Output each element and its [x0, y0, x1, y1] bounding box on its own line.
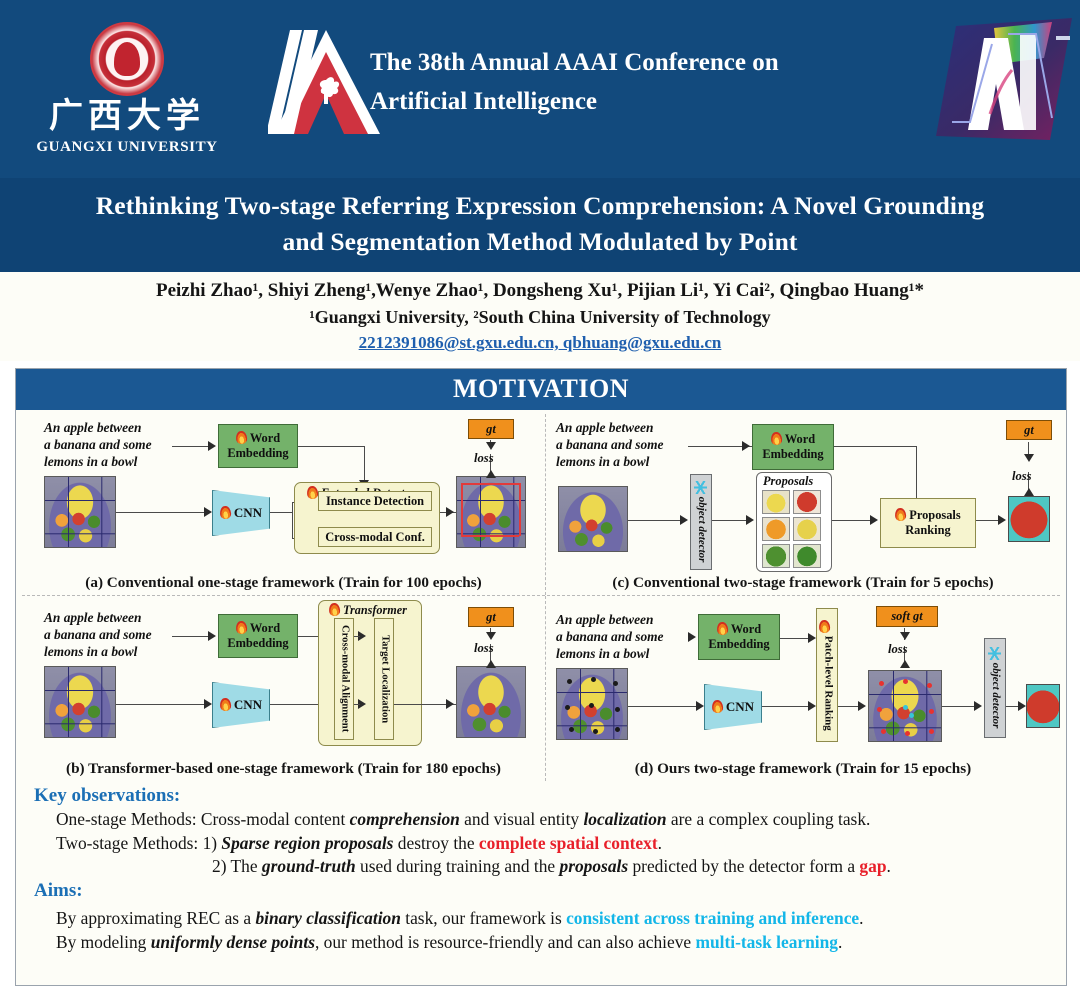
university-name-cn: 广西大学 — [49, 98, 205, 135]
patch-level-ranking-block-d: Patch-level Ranking — [816, 608, 838, 742]
figure-caption-b: (b) Transformer-based one-stage framewor… — [22, 758, 545, 781]
cnn-block-a: CNN — [212, 490, 270, 536]
figure-cell-d: An apple between a banana and some lemon… — [545, 596, 1060, 781]
proposal-thumb — [793, 490, 821, 514]
proposal-thumb — [762, 544, 790, 568]
flame-icon — [895, 508, 907, 522]
cnn-block-b: CNN — [212, 682, 270, 728]
guangxi-university-logo: 广西大学 GUANGXI UNIVERSITY — [12, 6, 242, 172]
flame-icon — [328, 602, 340, 616]
object-detector-block-c: object detector — [690, 474, 712, 570]
cnn-block-d: CNN — [704, 684, 762, 730]
result-image-a — [456, 476, 526, 548]
poster-root: 广西大学 GUANGXI UNIVERSITY The 38th Annual … — [0, 0, 1080, 998]
conference-title-line2: Artificial Intelligence — [370, 83, 900, 122]
snowflake-icon — [694, 481, 707, 494]
flame-icon — [306, 485, 318, 499]
object-detector-block-d: object detector — [984, 638, 1006, 738]
input-image-d — [556, 668, 628, 740]
figure-cell-a: An apple between a banana and some lemon… — [22, 414, 545, 595]
paper-title-band: Rethinking Two-stage Referring Expressio… — [0, 178, 1080, 272]
header-logo-band: 广西大学 GUANGXI UNIVERSITY The 38th Annual … — [0, 0, 1080, 178]
conference-title-line1: The 38th Annual AAAI Conference on — [370, 44, 900, 83]
result-image-b — [456, 666, 526, 738]
gt-block-c: gt — [1006, 420, 1052, 440]
contact-emails-link[interactable]: 2212391086@st.gxu.edu.cn, qbhuang@gxu.ed… — [10, 331, 1070, 356]
flame-icon — [219, 697, 231, 711]
proposal-thumb — [762, 517, 790, 541]
observation-line-1: One-stage Methods: Cross-modal content c… — [16, 808, 1066, 832]
affiliation-list: ¹Guangxi University, ²South China Univer… — [10, 305, 1070, 331]
proposal-thumbnail-grid — [762, 490, 821, 568]
target-localization-block-b: Target Localization — [374, 618, 394, 740]
gt-block-a: gt — [468, 419, 514, 439]
author-list: Peizhi Zhao¹, Shiyi Zheng¹,Wenye Zhao¹, … — [10, 278, 1070, 305]
figure-caption-a: (a) Conventional one-stage framework (Tr… — [22, 572, 545, 595]
input-image-c — [558, 486, 628, 552]
cross-modal-alignment-block-b: Cross-modal Alignment — [334, 618, 354, 740]
soft-gt-block-d: soft gt — [876, 606, 938, 627]
snowflake-icon — [988, 647, 1001, 660]
figure-caption-d: (d) Ours two-stage framework (Train for … — [546, 758, 1060, 781]
flame-icon — [235, 621, 247, 635]
aims-heading: Aims: — [16, 879, 1066, 903]
guangxi-university-seal-icon — [90, 22, 164, 96]
observation-line-2: Two-stage Methods: 1) Sparse region prop… — [16, 832, 1066, 856]
figure-row-top: An apple between a banana and some lemon… — [22, 414, 1060, 596]
aaai-triangle-mark-icon — [268, 22, 386, 142]
result-image-d — [868, 670, 942, 742]
key-observations-heading: Key observations: — [16, 785, 1066, 808]
paper-title-line1: Rethinking Two-stage Referring Expressio… — [24, 188, 1056, 224]
aaai-colored-logo-icon — [932, 18, 1072, 144]
proposals-ranking-block-c: Proposals Ranking — [880, 498, 976, 548]
university-name-en: GUANGXI UNIVERSITY — [36, 139, 217, 156]
diagram-b: An apple between a banana and some lemon… — [22, 596, 545, 758]
observations-section: Key observations: One-stage Methods: Cro… — [16, 781, 1066, 954]
flame-icon — [219, 505, 231, 519]
diagram-c: An apple between a banana and some lemon… — [546, 414, 1060, 572]
proposals-title: Proposals — [763, 474, 813, 489]
word-embedding-block-c: Word Embedding — [752, 424, 834, 470]
gt-block-b: gt — [468, 607, 514, 627]
flame-icon — [819, 619, 831, 633]
flame-icon — [711, 699, 723, 713]
input-image-a — [44, 476, 116, 548]
motivation-panel: MOTIVATION An apple between a banana and… — [15, 368, 1067, 986]
flame-icon — [716, 622, 728, 636]
figure-cell-b: An apple between a banana and some lemon… — [22, 596, 545, 781]
figure-row-bottom: An apple between a banana and some lemon… — [22, 596, 1060, 781]
input-phrase-a: An apple between a banana and some lemon… — [44, 420, 152, 471]
loss-label-d: loss — [888, 642, 908, 657]
instance-detection-block-a: Instance Detection — [318, 491, 432, 511]
loss-label-a: loss — [474, 451, 494, 466]
word-embedding-block-a: Word Embedding — [218, 424, 298, 468]
proposal-thumb — [762, 490, 790, 514]
figure-caption-c: (c) Conventional two-stage framework (Tr… — [546, 572, 1060, 595]
flame-icon — [770, 432, 782, 446]
flame-icon — [235, 431, 247, 445]
diagram-a: An apple between a banana and some lemon… — [22, 414, 545, 572]
input-phrase-b: An apple between a banana and some lemon… — [44, 610, 152, 661]
input-phrase-d: An apple between a banana and some lemon… — [556, 612, 664, 663]
paper-title-line2: and Segmentation Method Modulated by Poi… — [24, 224, 1056, 260]
word-embedding-block-b: Word Embedding — [218, 614, 298, 658]
input-image-b — [44, 666, 116, 738]
final-result-image-d — [1026, 684, 1060, 728]
authors-band: Peizhi Zhao¹, Shiyi Zheng¹,Wenye Zhao¹, … — [0, 272, 1080, 360]
proposal-thumb — [793, 517, 821, 541]
conference-title: The 38th Annual AAAI Conference on Artif… — [370, 44, 900, 122]
section-title-motivation: MOTIVATION — [16, 369, 1066, 410]
cross-modal-conf-block-a: Cross-modal Conf. — [318, 527, 432, 547]
proposal-thumb — [793, 544, 821, 568]
diagram-d: An apple between a banana and some lemon… — [546, 596, 1060, 758]
word-embedding-block-d: Word Embedding — [698, 614, 780, 660]
observation-line-3: 2) The ground-truth used during training… — [16, 855, 1066, 879]
loss-label-c: loss — [1012, 469, 1032, 484]
result-image-c — [1008, 496, 1050, 542]
aims-line-2: By modeling uniformly dense points, our … — [16, 931, 1066, 955]
figure-cell-c: An apple between a banana and some lemon… — [545, 414, 1060, 595]
input-phrase-c: An apple between a banana and some lemon… — [556, 420, 664, 471]
figure-grid: An apple between a banana and some lemon… — [16, 410, 1066, 781]
aims-line-1: By approximating REC as a binary classif… — [16, 903, 1066, 931]
loss-label-b: loss — [474, 641, 494, 656]
proposals-panel-c: Proposals — [756, 472, 832, 572]
